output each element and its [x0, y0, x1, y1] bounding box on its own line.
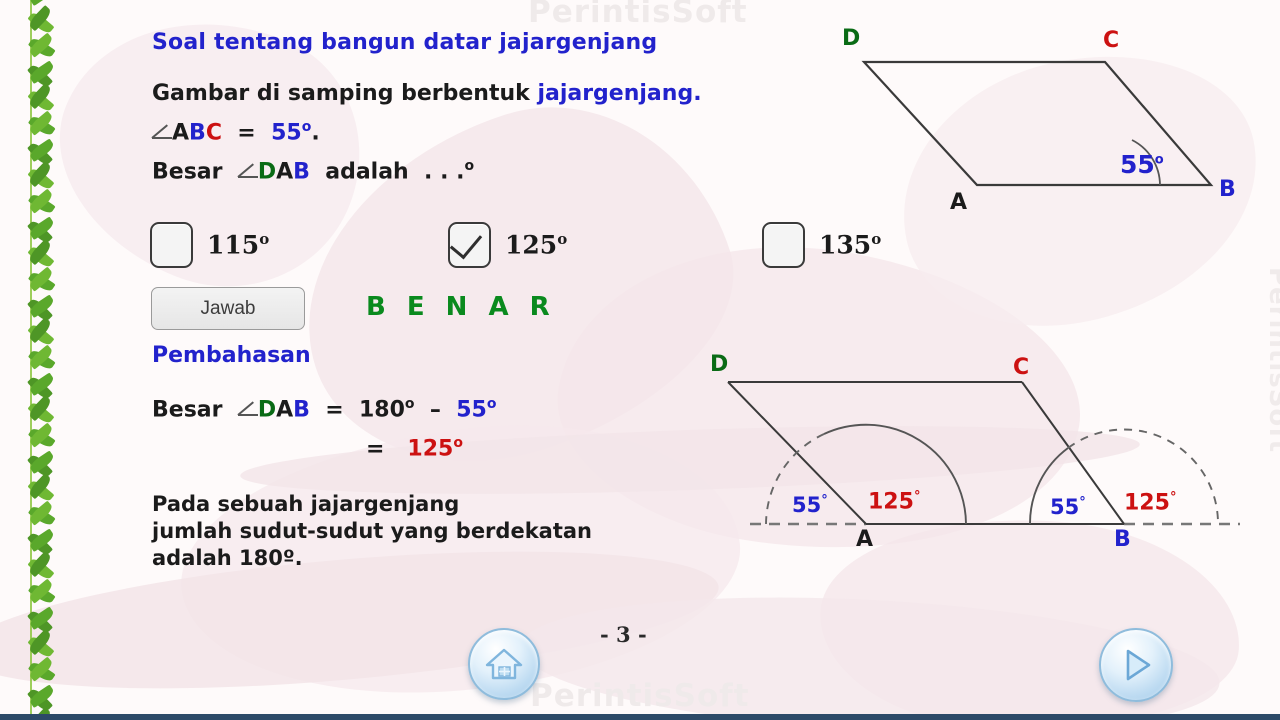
page-title: Soal tentang bangun datar jajargenjang	[152, 30, 657, 55]
figure-top-svg	[820, 14, 1280, 224]
question-prompt: Gambar di samping berbentuk jajargenjang…	[152, 81, 702, 106]
ask-degree: o	[464, 158, 474, 174]
expl-label-d: D	[258, 397, 276, 422]
expl-label-a: A	[276, 397, 293, 422]
angle-label-b-55: 55°	[1050, 495, 1086, 519]
angle-symbol-icon	[238, 402, 258, 417]
explanation-line-1: Besar DAB = 180o – 55o	[152, 396, 496, 422]
explanation-line-2: = 125o	[366, 435, 463, 461]
expl-value-55: 55	[456, 397, 487, 422]
expl-value-180: 180	[359, 397, 405, 422]
expl-deg-55: o	[487, 396, 497, 412]
expl-prefix: Besar	[152, 397, 222, 422]
figure-parallelogram-bottom: D C A B 55° 125° 55° 125°	[700, 355, 1280, 565]
vertex-label-b: B	[1219, 177, 1236, 202]
given-value: 55	[271, 120, 302, 145]
play-icon	[1115, 644, 1157, 686]
home-button[interactable]	[468, 628, 540, 700]
ask-dots: . . .	[424, 159, 464, 184]
asked-angle-line: Besar DAB adalah . . .o	[152, 158, 474, 184]
given-label-a: A	[172, 120, 189, 145]
expl-equals-2: =	[366, 436, 384, 461]
given-angle-line: ABC = 55o.	[152, 119, 320, 145]
prompt-shape: jajargenjang.	[537, 81, 701, 106]
next-button[interactable]	[1099, 628, 1173, 702]
angle-label-b-55: 55o	[1120, 150, 1164, 179]
given-period: .	[311, 120, 319, 145]
given-label-b: B	[189, 120, 206, 145]
option-row-135[interactable]: 135o	[762, 222, 881, 268]
option-label-135: 135o	[819, 230, 881, 259]
vertex-label-a: A	[856, 527, 873, 552]
vertex-label-d: D	[842, 26, 860, 51]
check-icon	[450, 226, 482, 260]
expl-minus: –	[430, 397, 441, 422]
ask-label-d: D	[258, 159, 276, 184]
angle-symbol-icon	[152, 125, 172, 140]
option-label-115: 115o	[207, 230, 269, 259]
checkbox-125[interactable]	[448, 222, 491, 268]
vertex-label-c: C	[1103, 28, 1119, 53]
vertex-label-b: B	[1114, 527, 1131, 552]
figure-parallelogram-top: D C A B 55o	[820, 14, 1280, 224]
given-label-c: C	[206, 120, 222, 145]
note-line-1: Pada sebuah jajargenjang	[152, 491, 592, 518]
vertex-label-d: D	[710, 352, 728, 377]
option-label-125: 125o	[505, 230, 567, 259]
note-line-3: adalah 180º.	[152, 545, 592, 572]
given-equals: =	[237, 120, 255, 145]
ask-middle: adalah	[325, 159, 409, 184]
note-line-2: jumlah sudut-sudut yang berdekatan	[152, 518, 592, 545]
explanation-note: Pada sebuah jajargenjang jumlah sudut-su…	[152, 491, 592, 572]
checkbox-115[interactable]	[150, 222, 193, 268]
checkbox-135[interactable]	[762, 222, 805, 268]
given-degree: o	[302, 119, 312, 135]
ask-label-b: B	[293, 159, 310, 184]
explanation-heading: Pembahasan	[152, 343, 311, 368]
angle-label-b-125: 125°	[1124, 490, 1176, 515]
ask-label-a: A	[276, 159, 293, 184]
jawab-button[interactable]: Jawab	[151, 287, 305, 330]
expl-result-125: 125	[407, 436, 453, 461]
expl-result-degree: o	[453, 435, 463, 451]
expl-equals-1: =	[325, 397, 343, 422]
vertex-label-a: A	[950, 190, 967, 215]
angle-symbol-icon	[238, 164, 258, 179]
option-row-125[interactable]: 125o	[448, 222, 567, 268]
page-number: - 3 -	[600, 622, 647, 647]
slide-canvas: PerintisSoft PerintisSoft PerintisSoft S…	[0, 0, 1280, 720]
bottom-bar	[0, 714, 1280, 720]
figure-bottom-svg	[700, 355, 1280, 565]
expl-label-b: B	[293, 397, 310, 422]
angle-label-a-55: 55°	[792, 493, 828, 517]
option-row-115[interactable]: 115o	[150, 222, 269, 268]
angle-label-a-125: 125°	[868, 489, 920, 514]
result-status-benar: B E N A R	[366, 292, 556, 322]
ask-prefix: Besar	[152, 159, 222, 184]
home-icon	[484, 646, 524, 682]
prompt-prefix: Gambar di samping berbentuk	[152, 81, 530, 106]
vertex-label-c: C	[1013, 355, 1029, 380]
expl-deg-180: o	[405, 396, 415, 412]
